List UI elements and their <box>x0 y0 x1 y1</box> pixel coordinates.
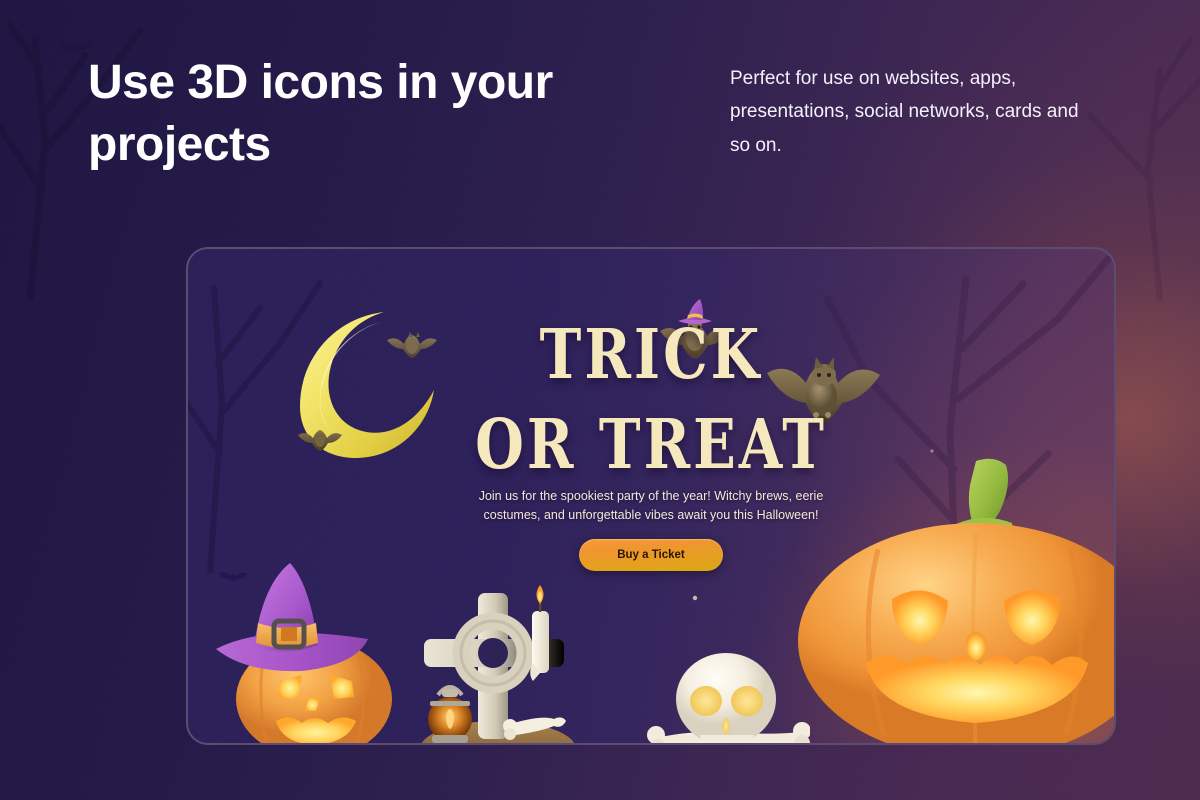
card-bat-tiny-icon <box>216 569 250 587</box>
page-headline: Use 3D icons in your projects <box>88 52 648 177</box>
halloween-promo-card: TRICK OR TREAT Join us for the spookiest… <box>186 247 1116 745</box>
skull-icon <box>646 647 810 745</box>
grave-cross-icon <box>402 577 592 745</box>
sparkle-icon <box>690 593 700 603</box>
card-title-line1: TRICK <box>188 321 1114 389</box>
card-title-line2: OR TREAT <box>188 411 1114 479</box>
page-subtitle: Perfect for use on websites, apps, prese… <box>730 62 1090 162</box>
card-description: Join us for the spookiest party of the y… <box>464 487 839 526</box>
card-bat-tiny-bottom-icon <box>688 711 722 729</box>
witch-hat-pumpkin-icon <box>206 561 416 745</box>
buy-ticket-button[interactable]: Buy a Ticket <box>579 539 723 571</box>
